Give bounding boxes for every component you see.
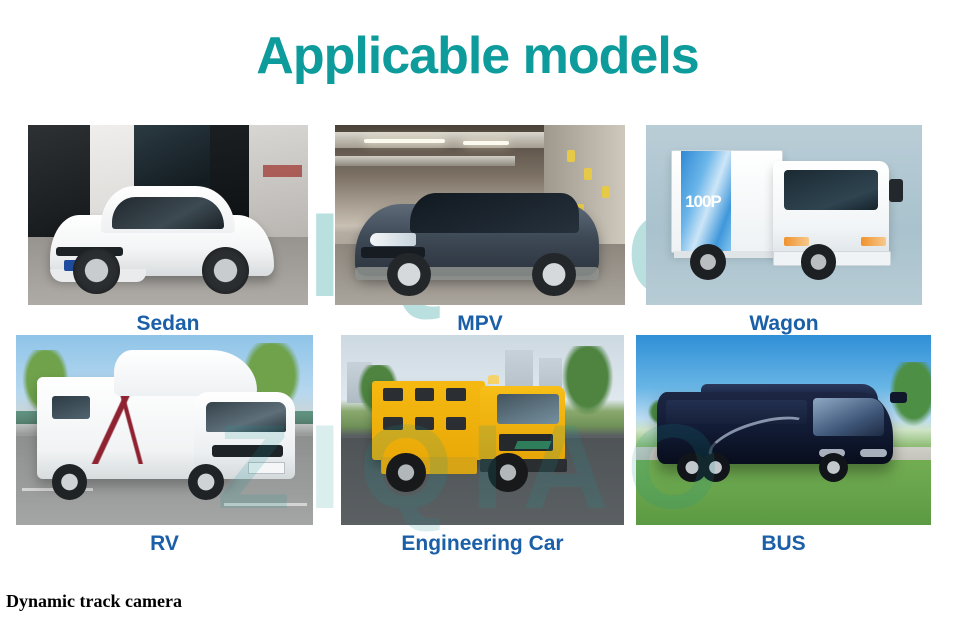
mpv-windows bbox=[410, 193, 578, 233]
truck-headlight-right bbox=[861, 237, 886, 246]
truck-mirror bbox=[889, 179, 903, 202]
gallery-row: RV bbox=[0, 335, 955, 545]
bus-headlight-right bbox=[860, 449, 887, 457]
footer-caption: Dynamic track camera bbox=[6, 591, 182, 612]
showroom-panel bbox=[249, 125, 308, 238]
sedan-scene bbox=[28, 125, 308, 305]
wall-marker bbox=[602, 186, 610, 198]
mpv-rear-wheel bbox=[532, 253, 576, 297]
sedan-window bbox=[112, 197, 224, 229]
bus-scene bbox=[636, 335, 931, 525]
model-card-label: Wagon bbox=[646, 312, 922, 336]
wall-marker bbox=[584, 168, 592, 180]
box-window bbox=[383, 388, 403, 401]
wall-marker bbox=[567, 150, 575, 162]
engineering-windshield bbox=[497, 394, 559, 424]
page-title: Applicable models bbox=[0, 28, 955, 85]
mpv-headlight bbox=[370, 233, 416, 246]
bus-windshield bbox=[813, 398, 884, 436]
truck-headlight-left bbox=[784, 237, 809, 246]
rv-license-plate bbox=[248, 462, 286, 474]
model-card-mpv[interactable]: MPV bbox=[335, 125, 625, 336]
box-window bbox=[446, 417, 466, 430]
wagon-scene: 100P bbox=[646, 125, 922, 305]
rv-front-wheel bbox=[188, 464, 224, 500]
truck-cargo-box: 100P bbox=[671, 150, 783, 253]
model-card-label: MPV bbox=[335, 312, 625, 336]
truck-model-badge: 100P bbox=[685, 192, 721, 212]
model-card-rv[interactable]: RV bbox=[16, 335, 313, 556]
truck-front-wheel bbox=[801, 244, 837, 280]
ceiling-light bbox=[364, 139, 445, 143]
box-window bbox=[446, 388, 466, 401]
model-card-label: BUS bbox=[636, 532, 931, 556]
wagon-photo: 100P bbox=[646, 125, 922, 305]
model-card-wagon[interactable]: 100P Wagon bbox=[646, 125, 922, 336]
warning-beacon bbox=[488, 375, 499, 385]
model-card-bus[interactable]: BUS bbox=[636, 335, 931, 556]
rv-photo bbox=[16, 335, 313, 525]
truck-chassis bbox=[674, 251, 779, 258]
sedan-photo bbox=[28, 125, 308, 305]
rv-decal-stripe bbox=[52, 392, 177, 464]
engineering-car-photo bbox=[341, 335, 624, 525]
tree bbox=[562, 346, 613, 414]
engineering-front-wheel bbox=[488, 453, 528, 493]
truck-windshield bbox=[784, 170, 878, 210]
mpv-front-wheel bbox=[387, 253, 431, 297]
mpv-scene bbox=[335, 125, 625, 305]
model-gallery: Sedan bbox=[0, 125, 955, 545]
box-window bbox=[383, 417, 403, 430]
engineering-car-scene bbox=[341, 335, 624, 525]
rv-windshield bbox=[206, 402, 286, 432]
box-window bbox=[415, 388, 435, 401]
gallery-row: Sedan bbox=[0, 125, 955, 335]
bus-photo bbox=[636, 335, 931, 525]
ceiling-band bbox=[335, 156, 515, 167]
ceiling-light bbox=[463, 141, 509, 145]
showroom-banner bbox=[263, 165, 302, 178]
engineering-rear-wheel bbox=[386, 453, 426, 493]
sedan-rear-wheel bbox=[202, 247, 250, 295]
grille-accent-stripe bbox=[515, 441, 552, 449]
model-card-label: RV bbox=[16, 532, 313, 556]
lane-marking bbox=[224, 503, 307, 506]
model-card-engineering-car[interactable]: Engineering Car bbox=[341, 335, 624, 556]
truck-rear-wheel bbox=[690, 244, 726, 280]
rv-overcab-bunk bbox=[114, 350, 257, 396]
model-card-label: Sedan bbox=[28, 312, 308, 336]
box-window bbox=[415, 417, 435, 430]
rv-scene bbox=[16, 335, 313, 525]
bus-mirror bbox=[890, 392, 908, 403]
rv-rear-wheel bbox=[52, 464, 88, 500]
model-card-sedan[interactable]: Sedan bbox=[28, 125, 308, 336]
rv-grille bbox=[212, 445, 283, 456]
model-card-label: Engineering Car bbox=[341, 532, 624, 556]
mpv-photo bbox=[335, 125, 625, 305]
